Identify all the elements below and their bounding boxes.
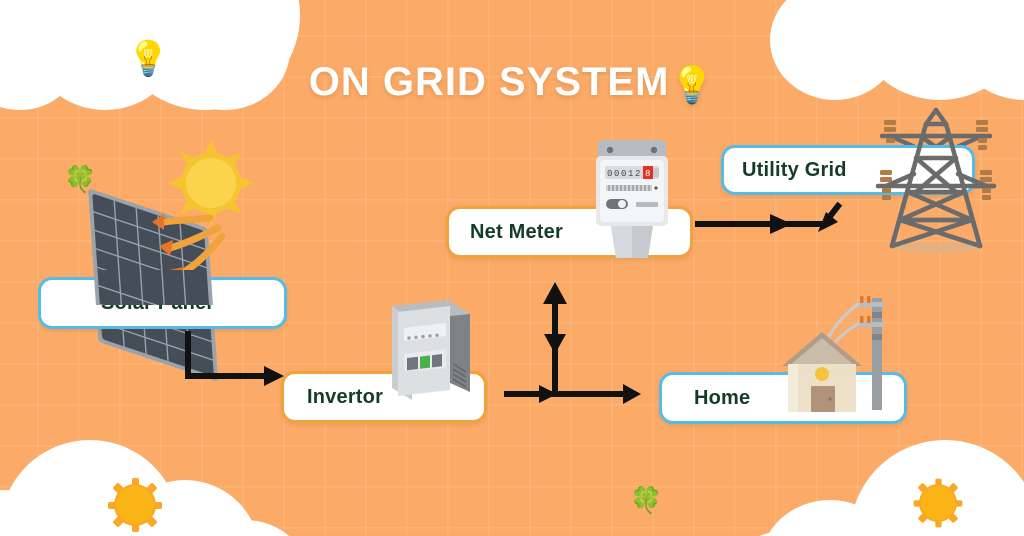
sun-icon bbox=[168, 140, 254, 226]
clover-emoji-bottom: 🍀 bbox=[630, 487, 662, 513]
svg-text:0: 0 bbox=[614, 169, 619, 179]
arrow-meter-to-grid bbox=[696, 200, 846, 246]
svg-text:2: 2 bbox=[635, 169, 640, 179]
node-label-invertor: Invertor bbox=[307, 386, 383, 409]
arrow-solar-to-inverter bbox=[180, 330, 290, 392]
svg-text:0: 0 bbox=[607, 169, 612, 179]
node-label-utility-grid: Utility Grid bbox=[742, 159, 847, 182]
meter-display-digits: 0 0 0 1 2 bbox=[607, 169, 640, 179]
node-label-net-meter: Net Meter bbox=[470, 221, 563, 244]
light-bulb-icon: 💡 bbox=[669, 64, 715, 105]
node-label-home: Home bbox=[694, 387, 750, 410]
svg-text:8: 8 bbox=[645, 169, 650, 179]
bulb-emoji-top-left: 💡 bbox=[127, 42, 169, 76]
svg-text:1: 1 bbox=[628, 169, 633, 179]
page-title-text: ON GRID SYSTEM bbox=[309, 60, 670, 104]
cloud-bottom-right bbox=[760, 430, 1024, 536]
arrow-inverter-tee bbox=[505, 282, 640, 404]
svg-text:0: 0 bbox=[621, 169, 626, 179]
sun-bottom-left bbox=[104, 474, 166, 536]
sun-bottom-right bbox=[910, 475, 966, 531]
infographic-canvas: ON GRID SYSTEM💡 💡 🍀 🍀 bbox=[0, 0, 1024, 536]
